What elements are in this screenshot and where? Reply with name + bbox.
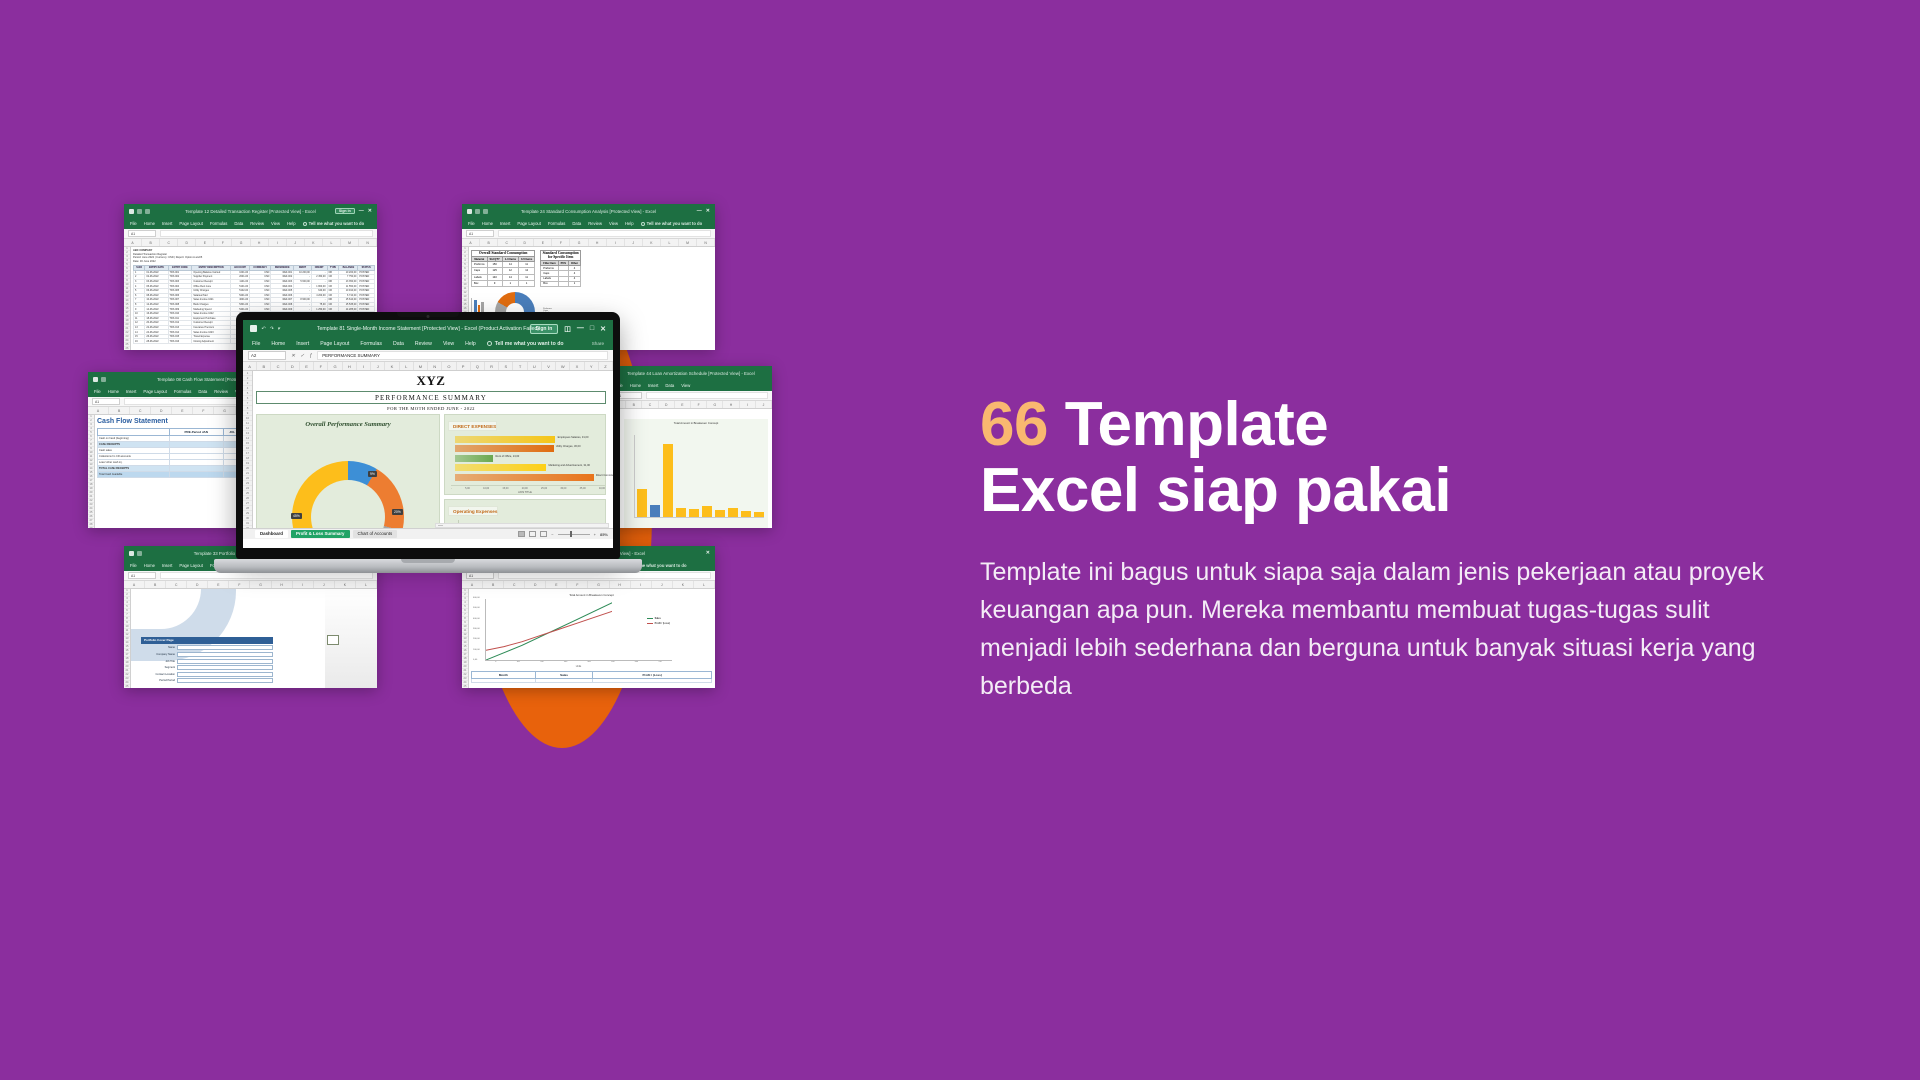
ribbon-tabs[interactable]: File Home Insert Page Layout Formulas Da… [124,218,377,229]
column-header-J[interactable]: J [756,401,772,408]
table-b-caption: Standard Consumption for Specific Item [540,250,581,260]
tell-me-box[interactable]: Tell me what you want to do [487,341,564,347]
ribbon-tab-file[interactable]: File [94,389,101,394]
ribbon-tab-page-layout[interactable]: Page Layout [320,341,349,347]
column-header-Y[interactable]: Y [585,362,599,370]
column-header-I[interactable]: I [357,362,371,370]
summary-table-row [472,679,712,683]
ribbon-tab-data[interactable]: Data [393,341,404,347]
column-header-J[interactable]: J [287,239,305,246]
quick-access-toolbar[interactable] [467,209,488,214]
column-header-E[interactable]: E [172,407,193,414]
column-header-E[interactable]: E [300,362,314,370]
direct-expense-bar-2: Rent of Office, 13,00 [455,455,601,462]
name-box[interactable]: A2 [248,351,286,360]
column-header-Z[interactable]: Z [599,362,613,370]
column-header-H[interactable]: H [589,239,607,246]
name-box[interactable]: A1 [128,230,156,237]
field-input[interactable] [177,678,273,683]
redo-icon[interactable] [145,209,150,214]
column-header-C[interactable]: C [271,362,285,370]
sheet-area[interactable]: 1234567891011121314151617181920212223242… [124,589,377,688]
column-header-H[interactable]: H [272,581,293,588]
titlebar: Template 12 Detailed Transaction Registe… [124,204,377,218]
zoom-out-icon[interactable]: − [551,532,553,537]
marketing-copy: 66 TemplateExcel siap pakai Template ini… [980,392,1800,705]
bar-0 [637,489,647,517]
zoom-level[interactable]: 85% [600,532,608,537]
save-icon[interactable] [467,209,472,214]
bar-fill [455,436,555,443]
cell: Total Cash Available [98,472,170,478]
column-header-M[interactable]: M [414,362,428,370]
column-header-F[interactable]: F [229,581,250,588]
column-header-C[interactable]: C [504,581,525,588]
sheet-tab-bar[interactable]: Dashboard Profit & Loss Summary Chart of… [243,528,613,539]
zoom-slider[interactable] [558,534,590,535]
quick-access-toolbar[interactable] [129,551,142,556]
ribbon-tab-data[interactable]: Data [234,221,243,226]
donut-label-0: 9% [368,471,377,477]
column-header-L[interactable]: L [323,239,341,246]
column-header-M[interactable]: M [341,239,359,246]
formula-input[interactable] [646,392,768,399]
legend-swatch-sales [647,618,653,619]
column-headers: ABCDEFGHIJKLMN [124,239,377,247]
ribbon-tab-insert[interactable]: Insert [648,383,658,388]
column-header-V[interactable]: V [542,362,556,370]
window-controls[interactable]: Sign in — ✕ [335,208,372,214]
ribbon-tab-view[interactable]: View [443,341,454,347]
direct-expense-bar-0: Employees Salaries, 31,00 [455,436,601,443]
ribbon-tab-insert[interactable]: Insert [162,221,172,226]
sheet-tab-dashboard[interactable]: Dashboard [255,530,288,538]
column-header-X[interactable]: X [570,362,584,370]
column-header-E[interactable]: E [546,581,567,588]
column-header-D[interactable]: D [516,239,534,246]
column-header-H[interactable]: H [251,239,269,246]
window-title: Template 81 Single-Month Income Statemen… [243,326,613,332]
close-button[interactable]: ✕ [706,208,710,214]
ribbon-tab-home[interactable]: Home [108,389,119,394]
titlebar: Template 24 Standard Consumption Analysi… [462,204,715,218]
column-header-G[interactable]: G [250,581,271,588]
column-header-L[interactable]: L [694,581,715,588]
bar-7 [728,508,738,517]
column-header-F[interactable]: F [552,239,570,246]
column-header-N[interactable]: N [697,239,715,246]
column-header-K[interactable]: K [673,581,694,588]
column-header-C[interactable]: C [160,239,178,246]
column-header-M[interactable]: M [679,239,697,246]
sheet-area[interactable]: 1234567891011121314151617181920212223242… [243,371,613,539]
table-b-body: Preforms4Caps4Labels4Box1 [541,266,581,287]
cover-checkbox-placeholder[interactable] [327,635,339,645]
direct-expenses-title: DIRECT EXPENSES [448,421,497,431]
column-header-H[interactable]: H [610,581,631,588]
column-header-F[interactable]: F [567,581,588,588]
column-header-D[interactable]: D [178,239,196,246]
row-header-25[interactable]: 25 [462,685,468,688]
column-header-G[interactable]: G [214,407,235,414]
column-header-D[interactable]: D [151,407,172,414]
row-headers: 1234567891011121314151617181920212223242… [124,247,131,350]
column-header-E[interactable]: E [534,239,552,246]
bar-8 [741,511,751,517]
ribbon-tab-data[interactable]: Data [198,389,207,394]
ribbon-tab-formulas[interactable]: Formulas [360,341,382,347]
column-header-C[interactable]: C [166,581,187,588]
column-header-E[interactable]: E [208,581,229,588]
ribbon-tab-help[interactable]: Help [625,221,634,226]
bar-data-label: Employees Salaries, 31,00 [558,436,589,439]
ribbon-tab-data[interactable]: Data [665,383,674,388]
ribbon-tab-review[interactable]: Review [214,389,228,394]
row-header-29[interactable]: 29 [88,527,94,528]
name-box[interactable]: A1 [466,230,494,237]
redo-icon[interactable] [483,209,488,214]
insert-function-icon[interactable]: ƒ [309,353,312,359]
tell-me-box[interactable]: Tell me what you want to do [641,221,703,226]
column-header-G[interactable]: G [232,239,250,246]
column-header-I[interactable]: I [740,401,756,408]
minimize-button[interactable]: — [697,208,702,214]
field-input[interactable] [177,665,273,670]
close-button[interactable]: ✕ [368,208,372,214]
ribbon-tab-page-layout[interactable]: Page Layout [179,221,203,226]
sheet-tab-chart-of-accounts[interactable]: Chart of Accounts [353,530,398,538]
form-field-3[interactable]: Segment [141,665,273,670]
row-header-26[interactable]: 26 [124,347,130,350]
row-header-25[interactable]: 25 [124,685,130,688]
formula-input[interactable] [498,230,711,237]
column-header-J[interactable]: J [371,362,385,370]
ribbon-tab-page-layout[interactable]: Page Layout [517,221,541,226]
field-input[interactable] [177,672,273,677]
column-header-I[interactable]: I [607,239,625,246]
column-header-N[interactable]: N [428,362,442,370]
ribbon-tab-file[interactable]: File [468,221,475,226]
formula-bar[interactable]: A2 ✕ ✓ ƒ PERFORMANCE SUMMARY [243,350,613,362]
company-name: XYZ [256,373,606,389]
formula-input[interactable] [498,572,711,579]
page-break-preview-icon[interactable] [540,531,547,537]
xtick-5: 500 [611,661,614,663]
ribbon-tab-file[interactable]: File [130,221,137,226]
sheet-area[interactable]: 1234567891011121314151617181920212223242… [610,409,772,528]
column-header-F[interactable]: F [214,239,232,246]
form-field-4[interactable]: Contact Location [141,672,273,677]
column-header-G[interactable]: G [707,401,723,408]
undo-icon[interactable] [137,551,142,556]
column-header-D[interactable]: D [659,401,675,408]
donut-label-1: 20% [392,509,403,515]
ribbon-tab-formulas[interactable]: Formulas [210,221,227,226]
ribbon-tab-file[interactable]: File [252,341,260,347]
summary-table-header: MonthSalesProfit / (Loss) [472,672,712,679]
column-header-G[interactable]: G [588,581,609,588]
xtick-2: 200 [540,661,543,663]
summary-table: MonthSalesProfit / (Loss) [471,671,712,683]
ytick-4: 400,00 [473,618,480,620]
scrollbar-thumb[interactable] [438,525,443,527]
column-header-D[interactable]: D [525,581,546,588]
column-header-T[interactable]: T [513,362,527,370]
page-layout-icon[interactable] [529,531,536,537]
column-header-S[interactable]: S [499,362,513,370]
ribbon-tab-help[interactable]: Help [287,221,296,226]
meta-line-3: Date: 30 June 2022 [133,260,375,263]
column-header-B[interactable]: B [109,407,130,414]
undo-icon[interactable] [101,377,106,382]
name-box[interactable]: A1 [128,572,156,579]
column-headers: ABCDEFGHIJKL [124,581,377,589]
column-header-F[interactable]: F [193,407,214,414]
field-input[interactable] [177,645,273,650]
ribbon-tab-home[interactable]: Home [630,383,641,388]
ribbon-tab-home[interactable]: Home [482,221,493,226]
close-button[interactable]: ✕ [706,550,710,556]
column-header-L[interactable]: L [356,581,377,588]
column-header-R[interactable]: R [485,362,499,370]
view-controls[interactable]: − + 85% [518,531,613,537]
ribbon-tab-view[interactable]: View [681,383,690,388]
column-header-B[interactable]: B [480,239,498,246]
sign-in-button[interactable]: Sign in [335,208,355,214]
sheet-tab-profit-loss-summary[interactable]: Profit & Loss Summary [291,530,350,538]
undo-icon[interactable] [137,209,142,214]
column-header-D[interactable]: D [187,581,208,588]
cover-form-card: Portfolio Cover Page NameCompany NameJob… [141,637,273,688]
page-title: 66 TemplateExcel siap pakai [980,392,1800,523]
column-header-K[interactable]: K [385,362,399,370]
ribbon-tab-page-layout[interactable]: Page Layout [179,563,203,568]
save-icon[interactable] [93,377,98,382]
cell: 1 [569,281,581,286]
column-header-B[interactable]: B [142,239,160,246]
sheet-area[interactable]: 1234567891011121314151617181920212223242… [462,589,715,688]
ribbon-tab-review[interactable]: Review [588,221,602,226]
ribbon-tab-insert[interactable]: Insert [162,563,172,568]
column-header-B[interactable]: B [626,401,642,408]
minimize-button[interactable]: — [359,208,364,214]
column-header-J[interactable]: J [625,239,643,246]
window-controls[interactable]: ✕ [706,550,710,556]
formula-input[interactable] [160,230,373,237]
quick-access-toolbar[interactable] [129,209,150,214]
window-loan-amortization[interactable]: Template 44 Loan Amortization Schedule [… [610,366,772,528]
bar-chart [634,435,764,518]
column-header-H[interactable]: H [343,362,357,370]
ribbon-tab-formulas[interactable]: Formulas [174,389,191,394]
column-headers[interactable]: ABCDEFGHIJKLMNOPQRSTUVWXYZ [243,362,613,371]
ribbon-tab-formulas[interactable]: Formulas [548,221,565,226]
column-header-A[interactable]: A [462,581,483,588]
column-header-A[interactable]: A [124,239,142,246]
cell: 1 [502,280,518,286]
ribbon-tabs[interactable]: File Home Insert Page Layout Formulas Da… [243,337,613,350]
column-header-K[interactable]: K [305,239,323,246]
column-header-B[interactable]: B [257,362,271,370]
confirm-icon[interactable]: ✓ [300,353,304,359]
field-input[interactable] [177,652,273,657]
column-header-K[interactable]: K [335,581,356,588]
form-field-5[interactable]: Period Period [141,678,273,683]
form-field-0[interactable]: Name [141,645,273,650]
direct-expense-bar-1: Utility Charges, 30,00 [455,445,601,452]
formula-bar[interactable]: A1 [610,391,772,401]
column-header-H[interactable]: H [723,401,739,408]
ribbon-tab-review[interactable]: Review [250,221,264,226]
ribbon-tab-help[interactable]: Help [465,341,476,347]
column-header-I[interactable]: I [269,239,287,246]
tell-me-box[interactable]: Tell me what you want to do [303,221,365,226]
bar-fill [455,474,594,481]
ribbon-tab-insert[interactable]: Insert [296,341,309,347]
ribbon-tabs[interactable]: File Home Insert Page Layout Formulas Da… [462,218,715,229]
ribbon-tab-page-layout[interactable]: Page Layout [143,389,167,394]
column-header-E[interactable]: E [675,401,691,408]
column-header-Q[interactable]: Q [471,362,485,370]
line-chart-svg [486,599,612,660]
field-input[interactable] [177,659,273,664]
column-header-U[interactable]: U [528,362,542,370]
column-header-A[interactable]: A [124,581,145,588]
undo-icon[interactable] [475,209,480,214]
column-header-I[interactable]: I [293,581,314,588]
share-button[interactable]: Share [592,341,604,346]
lightbulb-icon [303,222,307,226]
ribbon-tab-home[interactable]: Home [144,221,155,226]
header-0: Month [472,672,536,679]
save-icon[interactable] [129,551,134,556]
column-header-C[interactable]: C [130,407,151,414]
window-title: Template 24 Standard Consumption Analysi… [462,209,715,214]
column-header-I[interactable]: I [631,581,652,588]
table-specific-item-consumption: Standard Consumption for Specific Item F… [540,250,581,287]
tell-me-label: Tell me what you want to do [495,341,564,347]
ribbon-tabs[interactable]: File Home Insert Data View [610,380,772,391]
column-headers: ABCDEFGHIJ [610,401,772,409]
column-header-K[interactable]: K [643,239,661,246]
column-header-J[interactable]: J [314,581,335,588]
cell: Box [541,281,558,286]
formula-bar-icons[interactable]: ✕ ✓ ƒ [291,353,312,359]
bar-1 [650,505,660,517]
bar-fill [455,464,546,471]
cell [169,472,223,478]
column-header-O[interactable]: O [442,362,456,370]
column-header-B[interactable]: B [145,581,166,588]
ribbon-tab-insert[interactable]: Insert [126,389,136,394]
ribbon-tab-home[interactable]: Home [271,341,285,347]
table-overall-standard-consumption: Overall Standard Consumption MaterialStd… [471,250,535,287]
name-box[interactable]: A1 [92,398,120,405]
legend-entry-sales: Sales [647,617,670,620]
column-header-W[interactable]: W [556,362,570,370]
direct-expenses-panel: DIRECT EXPENSES Employees Salaries, 31,0… [444,414,606,495]
ribbon-tab-view[interactable]: View [271,221,280,226]
column-header-A[interactable]: A [462,239,480,246]
laptop-base [214,559,642,573]
cell: Box [472,280,488,286]
column-header-J[interactable]: J [652,581,673,588]
cancel-icon[interactable]: ✕ [291,353,295,359]
column-header-G[interactable]: G [570,239,588,246]
cell: 9 [487,280,502,286]
column-header-C[interactable]: C [642,401,658,408]
column-header-L[interactable]: L [400,362,414,370]
ytick-3: 300,00 [473,628,480,630]
column-header-F[interactable]: F [314,362,328,370]
zoom-in-icon[interactable]: + [594,532,596,537]
xtick-6: 30,00 [560,487,566,490]
ribbon-tab-insert[interactable]: Insert [500,221,510,226]
column-header-A[interactable]: A [88,407,109,414]
table-row: Box1 [541,281,581,286]
bar-data-label: Rent of Office, 13,00 [496,455,520,458]
quick-access-toolbar[interactable] [93,377,106,382]
xtick-1: 100 [517,661,520,663]
ribbon-tab-file[interactable]: File [130,563,137,568]
column-header-F[interactable]: F [691,401,707,408]
formula-input[interactable]: PERFORMANCE SUMMARY [317,351,608,360]
window-title: Template 44 Loan Amortization Schedule [… [610,371,772,376]
form-field-2[interactable]: Job Title [141,659,273,664]
direct-expenses-xticks: -5,0010,0015,0020,0025,0030,0035,0040,00 [451,485,605,490]
formula-bar[interactable]: A1 [124,229,377,239]
xtick-5: 25,00 [541,487,547,490]
column-header-A[interactable]: A [243,362,257,370]
field-label: Contact Location [141,673,175,676]
xtick-4: 20,00 [522,487,528,490]
column-header-N[interactable]: N [359,239,377,246]
column-header-P[interactable]: P [457,362,471,370]
column-header-L[interactable]: L [661,239,679,246]
form-card-title: Portfolio Cover Page [141,637,273,644]
row-headers: 1234567891011121314151617181920212223242… [124,589,131,688]
form-field-1[interactable]: Company Name [141,652,273,657]
line-chart: Sales Profit / (Loss) 0,00100,00200,0030… [485,599,672,661]
direct-expense-bar-3: Marketing and Advertisement, 31,00 [455,464,601,471]
normal-view-icon[interactable] [518,531,525,537]
headline-line1: Template [1048,390,1328,459]
save-icon[interactable] [129,209,134,214]
ribbon-tab-review[interactable]: Review [415,341,432,347]
column-header-C[interactable]: C [498,239,516,246]
column-header-G[interactable]: G [328,362,342,370]
formula-input[interactable] [160,572,373,579]
bar-fill [455,445,554,452]
laptop-screen[interactable]: ↶ ↷ ▾ Template 81 Single-Month Income St… [243,320,613,548]
column-header-B[interactable]: B [483,581,504,588]
formula-bar[interactable]: A1 [462,229,715,239]
xtick-0: - [451,487,452,490]
header-1: Sales [535,672,593,679]
bar-9 [754,512,764,517]
report-title: PERFORMANCE SUMMARY [256,391,606,404]
ribbon-tab-view[interactable]: View [609,221,618,226]
name-box[interactable]: A1 [466,572,494,579]
ribbon-tab-data[interactable]: Data [572,221,581,226]
window-controls[interactable]: — ✕ [697,208,710,214]
chart-legend: Sales Profit / (Loss) [647,617,670,626]
column-header-D[interactable]: D [286,362,300,370]
column-header-E[interactable]: E [196,239,214,246]
form-fields[interactable]: NameCompany NameJob TitleSegmentContact … [141,645,273,683]
report-period: FOR THE MOTH ENDED JUNE - 2022 [256,406,606,411]
ribbon-tab-home[interactable]: Home [144,563,155,568]
